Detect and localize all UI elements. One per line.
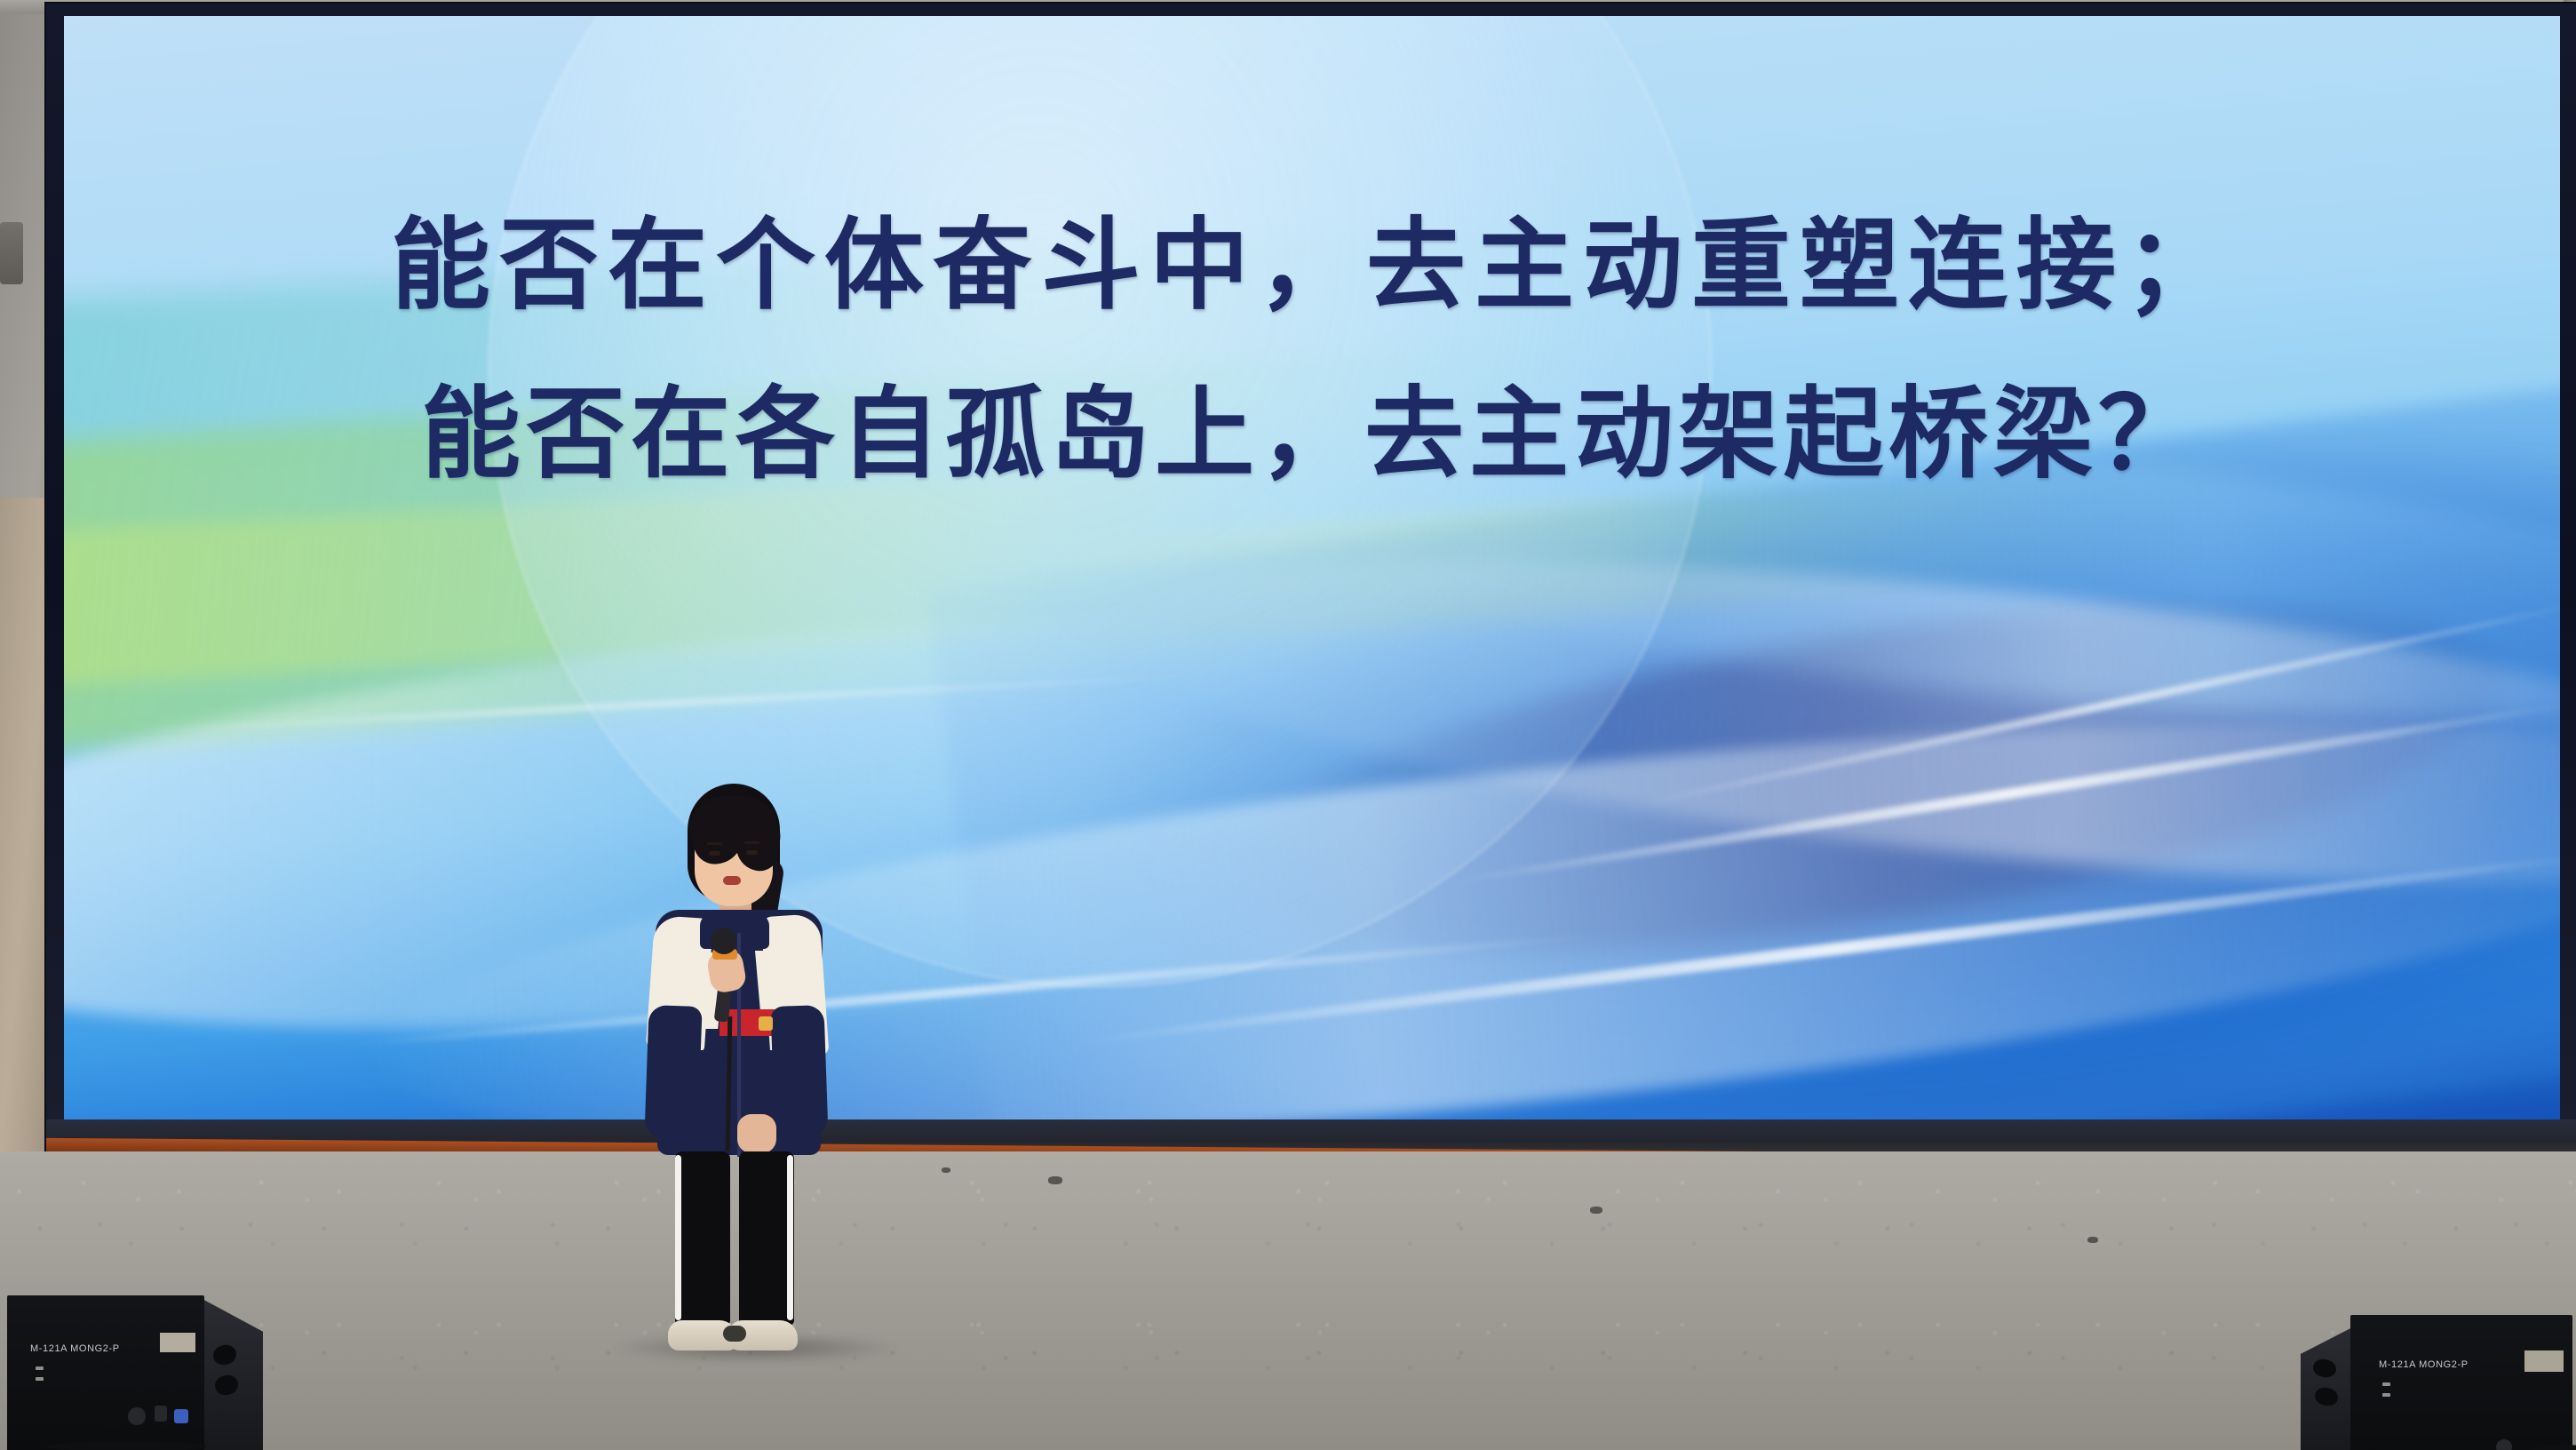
monitor-left-indicator [36, 1377, 44, 1381]
monitor-left-back-panel [7, 1295, 204, 1450]
presenter-brow-left [707, 842, 722, 845]
presenter-eye-left [709, 851, 720, 856]
presenter-pant-stripe-left [675, 1155, 681, 1320]
monitor-right-indicator [2382, 1393, 2390, 1397]
presenter-leg-right [739, 1151, 794, 1326]
presenter-figure [645, 784, 831, 1352]
monitor-left-model-label: M-121A MONG2-P [30, 1343, 120, 1354]
floor-debris [2087, 1237, 2098, 1243]
monitor-left-sticker [160, 1333, 195, 1352]
presenter-mouth [723, 876, 741, 885]
monitor-left-input-port [128, 1407, 146, 1425]
slide-text-block: 能否在个体奋斗中，去主动重塑连接； 能否在各自孤岛上，去主动架起桥梁？ [64, 181, 2560, 520]
stage-monitor-left: M-121A MONG2-P [0, 1290, 263, 1450]
floor-debris [942, 1167, 950, 1173]
presenter-jacket-emblem [759, 1016, 773, 1031]
presenter-legs [672, 1151, 805, 1329]
monitor-right-sticker [2524, 1350, 2564, 1372]
presenter-arm-right [770, 1005, 828, 1138]
monitor-left-indicator [36, 1366, 44, 1370]
slide-line-1: 能否在个体奋斗中，去主动重塑连接； [99, 181, 2524, 350]
presenter-leg-left [675, 1151, 730, 1326]
wall-fixture [0, 222, 23, 284]
floor-debris [1048, 1176, 1062, 1184]
monitor-right-input-port [2496, 1439, 2512, 1450]
presenter-arm-left [644, 1005, 702, 1140]
presenter-shoe-detail [723, 1326, 746, 1342]
floor-texture [0, 1151, 2576, 1450]
monitor-right-model-label: M-121A MONG2-P [2379, 1359, 2469, 1370]
screen-surface: 能否在个体奋斗中，去主动重塑连接； 能否在各自孤岛上，去主动架起桥梁？ [64, 16, 2560, 1119]
stage-floor [0, 1151, 2576, 1450]
floor-debris [1590, 1207, 1602, 1214]
monitor-left-cable [46, 1441, 206, 1450]
slide-line-2: 能否在各自孤岛上，去主动架起桥梁？ [99, 350, 2524, 519]
monitor-right-indicator [2382, 1382, 2390, 1386]
monitor-left-speakon-jack [174, 1409, 188, 1423]
monitor-left-side-panel [199, 1297, 263, 1450]
led-screen-wall: 能否在个体奋斗中，去主动重塑连接； 能否在各自孤岛上，去主动架起桥梁？ [46, 4, 2576, 1159]
presenter-hand-lower [737, 1114, 776, 1153]
presenter-eye-right [746, 850, 758, 855]
microphone-head-icon [711, 928, 737, 954]
stage-scene: 能否在个体奋斗中，去主动重塑连接； 能否在各自孤岛上，去主动架起桥梁？ [0, 0, 2576, 1450]
monitor-left-switch [155, 1406, 167, 1422]
stage-monitor-right: M-121A MONG2-P [2301, 1301, 2576, 1450]
presenter-pant-stripe-right [787, 1155, 793, 1320]
presenter-brow-right [744, 841, 759, 844]
